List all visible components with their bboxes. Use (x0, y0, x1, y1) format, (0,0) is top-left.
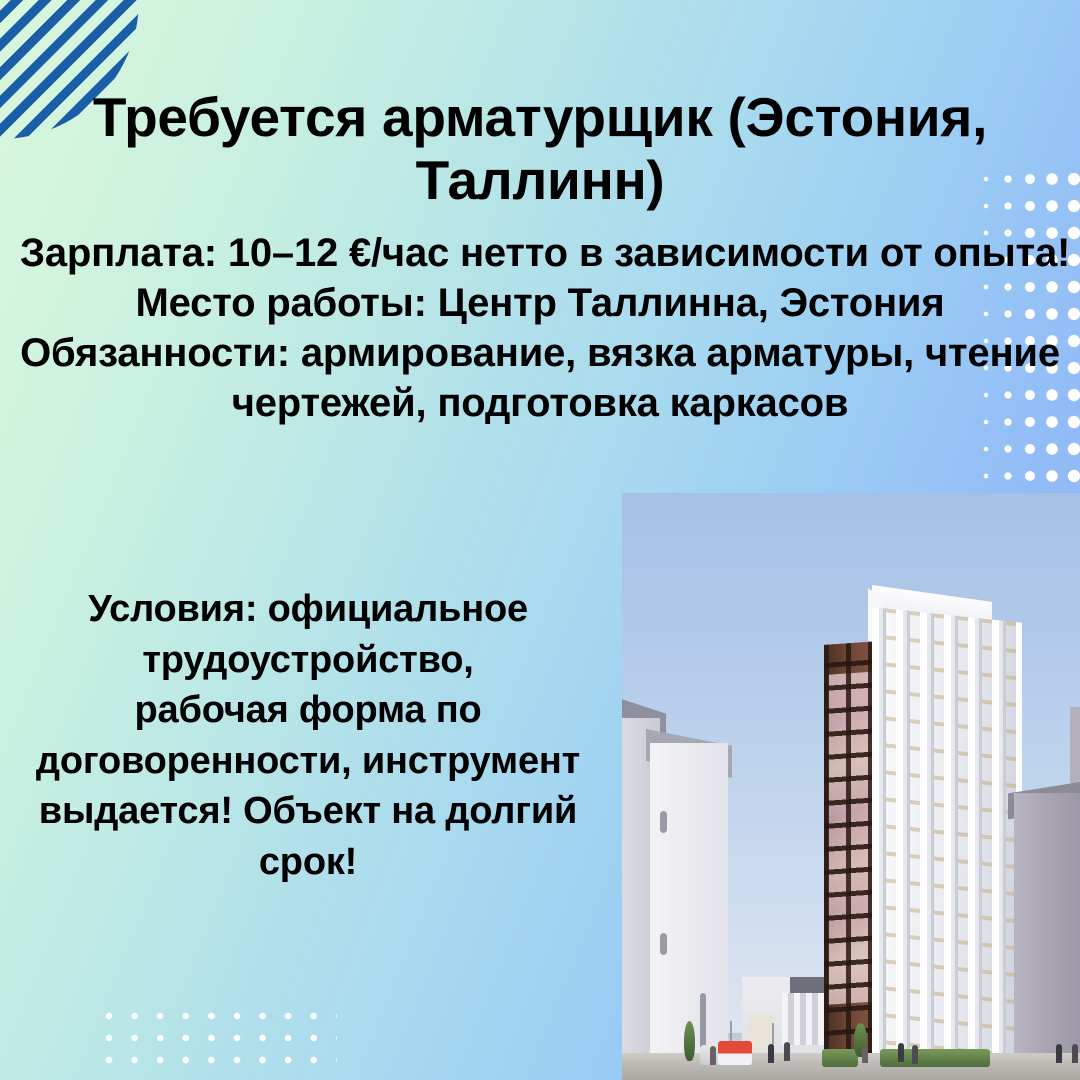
title-line: Таллинн) (416, 149, 665, 211)
detail-line-duties-2: чертежей, подготовка каркасов (20, 378, 1060, 428)
left-building-window (660, 933, 667, 955)
poster-canvas: Требуется арматурщик (Эстония, Таллинн) … (0, 0, 1080, 1080)
detail-line-duties-1: Обязанности: армирование, вязка арматуры… (20, 328, 1060, 378)
detail-line-salary: Зарплата: 10–12 €/час нетто в зависимост… (20, 228, 1060, 278)
tram-vehicle (718, 1041, 752, 1065)
right-building-foreground (1014, 793, 1080, 1080)
pedestrian (784, 1042, 790, 1061)
tower-white-fin-facade (872, 607, 1022, 1080)
left-building-window (700, 993, 706, 1053)
tower-vertical-fins (872, 607, 1022, 1080)
pedestrian (1072, 1044, 1078, 1063)
pedestrian (898, 1043, 904, 1062)
pedestrian (912, 1045, 918, 1064)
pedestrian (1056, 1044, 1062, 1063)
building-render-photo (622, 493, 1080, 1080)
page-title: Требуется арматурщик (Эстония, Таллинн) (60, 86, 1020, 211)
planter-hedge (880, 1049, 990, 1067)
conditions-line: трудоустройство, (8, 635, 608, 686)
conditions-line: срок! (8, 837, 608, 888)
pedestrian (862, 1047, 868, 1063)
conditions-line: договоренности, инструмент (8, 736, 608, 787)
conditions-line: Условия: официальное (8, 584, 608, 635)
conditions-block: Условия: официальное трудоустройство, ра… (8, 584, 608, 887)
detail-line-location: Место работы: Центр Таллинна, Эстония (20, 278, 1060, 328)
dot-grid-bottom-left-icon (105, 1012, 337, 1074)
pedestrian (710, 1046, 716, 1065)
job-details-block: Зарплата: 10–12 €/час нетто в зависимост… (20, 228, 1060, 428)
pedestrian (768, 1044, 774, 1063)
planter-hedge (822, 1049, 858, 1067)
conditions-line: рабочая форма по (8, 685, 608, 736)
title-line: Требуется арматурщик (Эстония, (93, 86, 987, 148)
left-building-window (660, 811, 667, 833)
street-tree (684, 1021, 695, 1061)
conditions-line: выдается! Объект на долгий (8, 786, 608, 837)
